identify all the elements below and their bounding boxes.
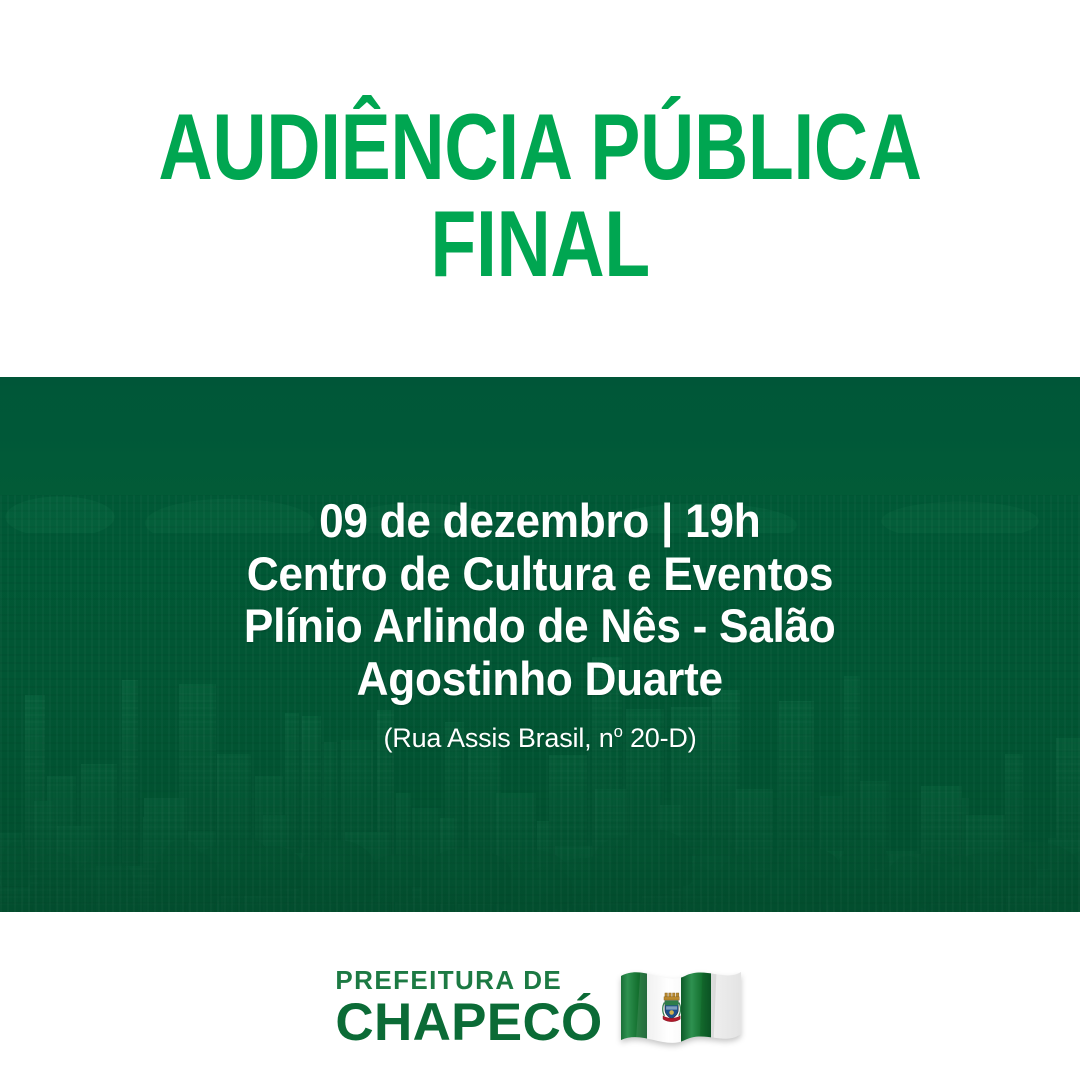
page-title-line-2: FINAL xyxy=(430,198,649,290)
event-venue-line-3: Agostinho Duarte xyxy=(357,653,723,706)
prefeitura-chapeco-logo: PREFEITURA DE CHAPECÓ xyxy=(335,960,744,1056)
poster-canvas: AUDIÊNCIA PÚBLICA FINAL 09 de dezembro |… xyxy=(0,0,1080,1080)
event-address: (Rua Assis Brasil, no 20-D) xyxy=(383,722,696,754)
cityscape-band: 09 de dezembro | 19h Centro de Cultura e… xyxy=(0,377,1080,912)
logo-main-label: CHAPECÓ xyxy=(335,996,602,1049)
event-venue-line-2: Plínio Arlindo de Nês - Salão xyxy=(244,600,836,653)
address-ordinal-superscript: o xyxy=(614,722,623,741)
chapeco-flag-icon xyxy=(617,960,745,1056)
event-datetime: 09 de dezembro | 19h xyxy=(319,495,760,548)
coat-of-arms-icon xyxy=(662,993,680,1022)
address-suffix: 20-D) xyxy=(623,723,697,753)
address-prefix: (Rua Assis Brasil, n xyxy=(383,723,613,753)
title-block: AUDIÊNCIA PÚBLICA FINAL xyxy=(0,0,1080,377)
page-title-line-1: AUDIÊNCIA PÚBLICA xyxy=(158,101,921,193)
event-venue-line-1: Centro de Cultura e Eventos xyxy=(247,548,833,601)
event-details: 09 de dezembro | 19h Centro de Cultura e… xyxy=(0,377,1080,912)
logo-top-label: PREFEITURA DE xyxy=(335,967,562,993)
footer: PREFEITURA DE CHAPECÓ xyxy=(0,912,1080,1080)
logo-wordmark: PREFEITURA DE CHAPECÓ xyxy=(335,967,602,1049)
